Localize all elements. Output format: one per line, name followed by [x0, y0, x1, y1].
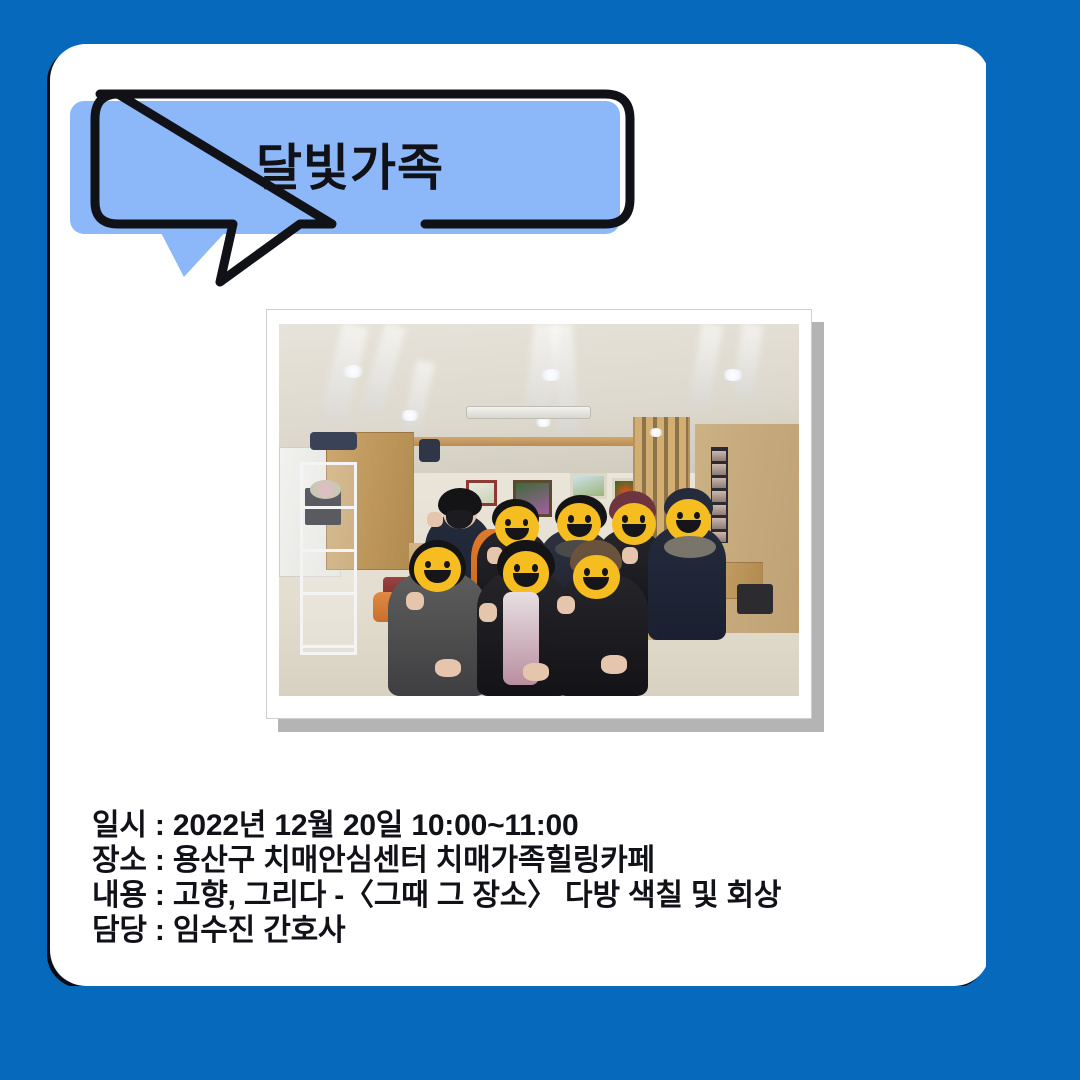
photo-person-hand — [427, 512, 443, 527]
photo-ceiling-light — [341, 365, 365, 378]
photo-scarf — [664, 536, 716, 558]
photo-flower-vase — [310, 480, 341, 499]
photo-frame — [266, 309, 812, 719]
photo-ceiling-fixture — [466, 406, 591, 419]
info-line-staff: 담당 : 임수진 간호사 — [92, 913, 972, 948]
photo-person-hand — [435, 659, 461, 678]
info-line-content: 내용 : 고향, 그리다 -〈그때 그 장소〉 다방 색칠 및 회상 — [92, 878, 972, 913]
title-speech-bubble: 달빛가족 — [70, 84, 660, 299]
info-line-date: 일시 : 2022년 12월 20일 10:00~11:00 — [92, 808, 972, 843]
poster-canvas: 달빛가족 — [0, 0, 1080, 1080]
photo-emoji-face — [414, 547, 461, 592]
photo-dark-bag — [737, 584, 773, 614]
photo-person-hand — [601, 655, 627, 674]
photo-rolled-mat — [310, 432, 357, 451]
photo-wall-speaker — [419, 439, 440, 461]
photo-ceiling-light — [721, 369, 745, 382]
card-outline-mask-bottom — [40, 986, 1000, 1056]
photo-person-hand — [479, 603, 497, 622]
card-outline-mask-right — [986, 40, 1046, 992]
photo-person-hand — [523, 663, 549, 682]
photo-person-hand — [557, 596, 575, 615]
photo-emoji-face — [503, 551, 550, 596]
photo-emoji-face — [573, 555, 620, 600]
group-photo — [279, 324, 799, 696]
info-line-place: 장소 : 용산구 치매안심센터 치매가족힐링카페 — [92, 843, 972, 878]
photo-wall-photo-strip — [711, 447, 729, 544]
photo-ceiling-light — [648, 428, 664, 437]
photo-ceiling-light — [539, 369, 563, 382]
photo-person-hand — [622, 547, 638, 564]
event-info-block: 일시 : 2022년 12월 20일 10:00~11:00 장소 : 용산구 … — [92, 808, 972, 948]
photo-person-hand — [406, 592, 424, 611]
photo-emoji-face — [612, 503, 656, 546]
page-title: 달빛가족 — [70, 101, 620, 234]
speech-bubble-tail-fill — [158, 227, 230, 277]
